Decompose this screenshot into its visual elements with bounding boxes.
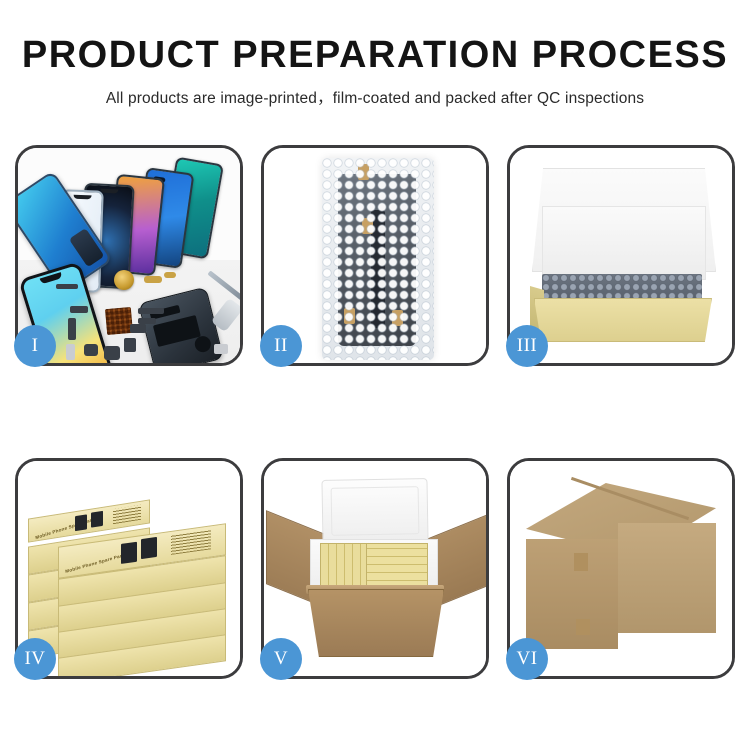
notch-icon — [100, 189, 118, 194]
screw-set-icon — [214, 344, 228, 354]
foam-lid-icon — [321, 478, 428, 544]
step-image-inner-box-foam — [510, 148, 732, 363]
page-header: PRODUCT PREPARATION PROCESS All products… — [0, 0, 750, 108]
foam-sheet-icon — [542, 206, 706, 280]
spare-part-gold-icon — [164, 272, 176, 278]
flex-cable-icon — [68, 318, 76, 340]
box-text-lines-icon — [171, 529, 211, 555]
page-subtitle: All products are image-printed，film-coat… — [0, 86, 750, 108]
page-title: PRODUCT PREPARATION PROCESS — [0, 36, 750, 76]
step-image-carton-loading — [264, 461, 486, 676]
carton-right-face-icon — [618, 523, 716, 633]
step-badge-6: VI — [506, 638, 548, 680]
step-image-carton-sealed — [510, 461, 732, 676]
sim-tray-icon — [66, 344, 75, 360]
flex-cable-icon — [138, 308, 164, 314]
box-text-lines-icon — [113, 505, 141, 524]
spare-part-icon — [70, 306, 88, 313]
box-front-icon — [534, 298, 712, 342]
carton-tape-icon — [574, 553, 588, 571]
screw-grid-icon — [105, 307, 133, 335]
spare-part-icon — [56, 284, 78, 289]
step-image-bubble-wrap — [264, 148, 486, 363]
spare-part-icon — [130, 324, 146, 333]
bubble-wrap-bag-icon — [322, 158, 434, 360]
step-panel-carton-loading[interactable]: V — [261, 458, 489, 679]
step-badge-3: III — [506, 325, 548, 367]
spare-part-icon — [124, 338, 136, 352]
box-stack-icon: Mobile Phone Spare Parts Mobile Phone Sp… — [22, 473, 236, 669]
box-phone-graphic-icon — [141, 537, 157, 559]
step-panel-carton-sealed[interactable]: VI — [507, 458, 735, 679]
step-panel-boxes-stacked[interactable]: Mobile Phone Spare Parts Mobile Phone Sp… — [15, 458, 243, 679]
step-panel-product-parts[interactable]: I — [15, 145, 243, 366]
step-badge-5: V — [260, 638, 302, 680]
carton-tape-icon — [576, 619, 590, 635]
step-badge-2: II — [260, 325, 302, 367]
step-badge-1: I — [14, 325, 56, 367]
carton-front-icon — [308, 589, 444, 657]
carton-left-face-icon — [526, 539, 618, 649]
process-steps-grid: I II III — [15, 145, 735, 679]
box-phone-graphic-icon — [121, 542, 137, 564]
step-panel-inner-box-foam[interactable]: III — [507, 145, 735, 366]
spare-part-gold-icon — [144, 276, 162, 283]
step-image-boxes-stacked: Mobile Phone Spare Parts Mobile Phone Sp… — [18, 461, 240, 676]
box-phone-graphic-icon — [75, 514, 87, 531]
spare-part-icon — [84, 344, 98, 356]
speaker-coil-icon — [114, 270, 134, 290]
step-panel-bubble-wrap[interactable]: II — [261, 145, 489, 366]
notch-icon — [73, 195, 91, 200]
bubble-texture-icon — [322, 158, 434, 360]
box-phone-graphic-icon — [91, 511, 103, 528]
step-badge-4: IV — [14, 638, 56, 680]
yellow-boxes-inside-icon — [366, 543, 428, 589]
step-image-product-parts — [18, 148, 240, 363]
speaker-module-icon — [104, 346, 120, 360]
